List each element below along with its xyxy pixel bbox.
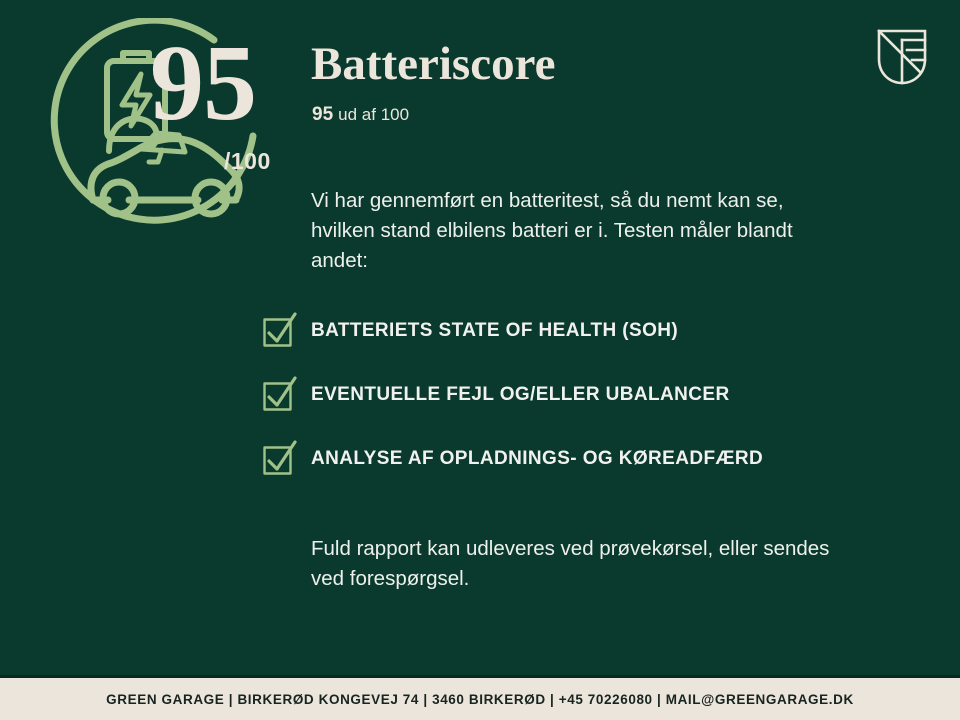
checklist: BATTERIETS STATE OF HEALTH (SOH) EVENTUE… bbox=[262, 312, 862, 504]
score-denominator: /100 bbox=[224, 148, 271, 175]
checkbox-checked-icon bbox=[262, 376, 298, 412]
outro-paragraph: Fuld rapport kan udleveres ved prøvekørs… bbox=[311, 534, 841, 594]
score-subtitle-value: 95 bbox=[312, 104, 333, 125]
score-subtitle-rest: ud af 100 bbox=[338, 105, 409, 124]
intro-paragraph: Vi har gennemført en batteritest, så du … bbox=[311, 186, 831, 276]
score-subtitle: 95 ud af 100 bbox=[312, 103, 409, 126]
checklist-item-label: BATTERIETS STATE OF HEALTH (SOH) bbox=[311, 320, 678, 342]
checklist-item-label: ANALYSE AF OPLADNINGS- OG KØREADFÆRD bbox=[311, 448, 763, 470]
footer-bar: GREEN GARAGE | BIRKERØD KONGEVEJ 74 | 34… bbox=[0, 678, 960, 720]
green-garage-shield-logo bbox=[876, 28, 928, 86]
checkbox-checked-icon bbox=[262, 440, 298, 476]
page-title: Batteriscore bbox=[311, 38, 555, 90]
shield-diagonal bbox=[879, 31, 920, 72]
list-item: BATTERIETS STATE OF HEALTH (SOH) bbox=[262, 312, 862, 376]
checklist-item-label: EVENTUELLE FEJL OG/ELLER UBALANCER bbox=[311, 384, 730, 406]
footer-contact-text: GREEN GARAGE | BIRKERØD KONGEVEJ 74 | 34… bbox=[106, 692, 854, 707]
checkbox-checked-icon bbox=[262, 312, 298, 348]
car-body-top bbox=[91, 139, 239, 200]
list-item: EVENTUELLE FEJL OG/ELLER UBALANCER bbox=[262, 376, 862, 440]
list-item: ANALYSE AF OPLADNINGS- OG KØREADFÆRD bbox=[262, 440, 862, 504]
battery-score-card: 95 /100 Batteriscore 95 ud af 100 Vi har… bbox=[0, 0, 960, 720]
battery-score-badge: 95 /100 bbox=[46, 18, 286, 246]
